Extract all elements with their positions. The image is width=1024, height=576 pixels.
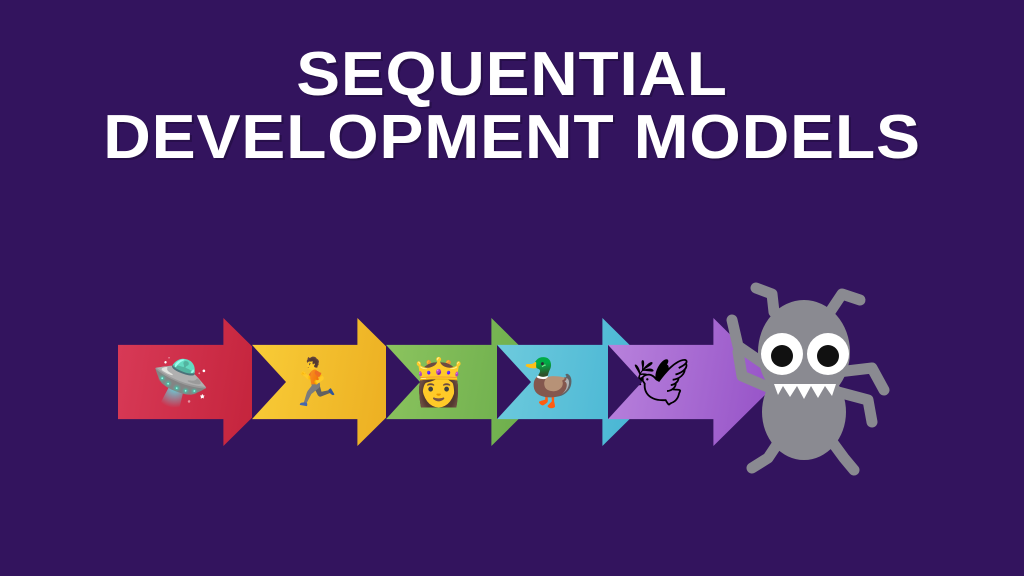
page-title: SEQUENTIAL DEVELOPMENT MODELS [0, 46, 1024, 168]
bug-icon [712, 272, 902, 482]
title-line-1: SEQUENTIAL [0, 46, 1024, 105]
title-line-2: DEVELOPMENT MODELS [0, 109, 1024, 168]
running-monster-icon: 🏃 [286, 359, 344, 405]
ufo-alien-icon: 🛸 [152, 359, 210, 405]
arrow-notch-2 [252, 318, 286, 446]
slide-canvas: SEQUENTIAL DEVELOPMENT MODELS 🛸 🏃 👸 🦆 🕊 [0, 0, 1024, 576]
arrow-notch-3 [386, 318, 420, 446]
